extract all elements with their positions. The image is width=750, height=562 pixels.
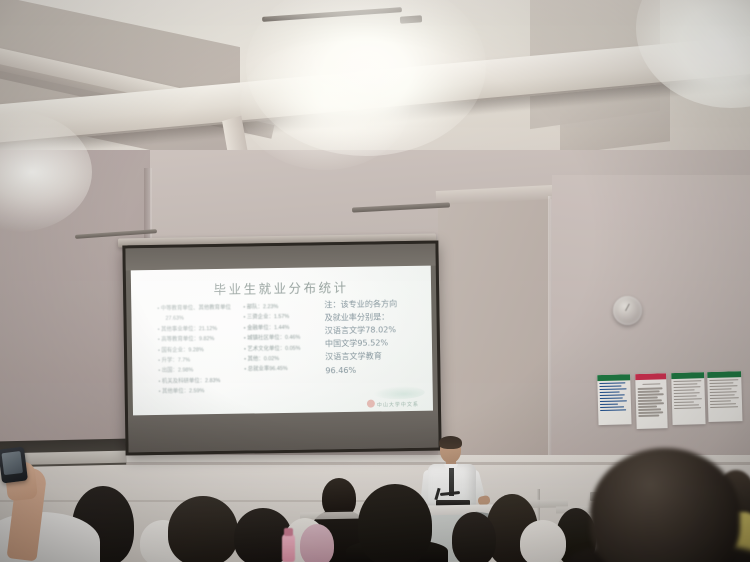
projector-screen: 毕业生就业分布统计 • 中等教育单位、其他教育单位 27.63% • 其他事业单… xyxy=(122,241,441,456)
poster-text-lines xyxy=(671,378,705,409)
slide-note: 注：该专业的各方向 及就业率分别是： 汉语言文学78.02% 中国文学95.52… xyxy=(324,297,398,377)
right-wall xyxy=(552,175,750,495)
slide-note-line: 96.46% xyxy=(325,363,398,377)
wall-poster-group xyxy=(597,371,750,437)
slide-note-line: 中国文学95.52% xyxy=(325,337,398,351)
wall-poster xyxy=(635,373,668,429)
slide-bullet: • 总就业率96.45% xyxy=(244,364,301,375)
poster-text-lines xyxy=(635,379,667,416)
water-bottle xyxy=(282,534,295,562)
classroom-photo: 毕业生就业分布统计 • 中等教育单位、其他教育单位 27.63% • 其他事业单… xyxy=(0,0,750,562)
poster-text-lines xyxy=(707,377,742,408)
wall-poster xyxy=(597,374,631,425)
audience-head xyxy=(358,484,432,562)
logo-mark-icon xyxy=(367,400,375,408)
logo-text: 中山大学中文系 xyxy=(377,401,419,409)
slide-note-line: 注：该专业的各方向 xyxy=(324,297,397,311)
slide-title: 毕业生就业分布统计 xyxy=(131,276,431,300)
slide-column-left: • 中等教育单位、其他教育单位 27.63% • 其他事业单位：21.12% •… xyxy=(157,303,232,398)
slide-logo: 中山大学中文系 xyxy=(367,386,427,409)
slide-note-line: 汉语言文学78.02% xyxy=(325,323,398,337)
slide-column-middle: • 部队：2.23% • 三资企业：1.57% • 金融单位：1.44% • 城… xyxy=(243,302,301,376)
screen-bottom-band xyxy=(128,411,439,453)
water-bottle-cap xyxy=(284,528,293,536)
slide-bullet: • 城镇社区单位：0.46% xyxy=(244,333,301,344)
slide-note-line: 汉语言文学教育 xyxy=(325,350,398,364)
audience-head xyxy=(520,520,566,562)
audience-head xyxy=(300,524,334,562)
wall-poster xyxy=(707,371,742,422)
speaker-hair xyxy=(439,436,462,449)
wall-poster xyxy=(671,372,705,425)
poster-text-lines xyxy=(597,380,631,411)
audience-head xyxy=(168,496,238,562)
smartphone-icon[interactable] xyxy=(0,447,28,484)
logo-swoosh-icon xyxy=(373,386,425,400)
wall-clock-icon xyxy=(613,296,642,325)
slide-bullet: • 艺术文化单位：0.05% xyxy=(244,343,301,354)
slide-note-line: 及就业率分别是： xyxy=(324,310,397,324)
slide-bullet: • 其他单位：2.59% xyxy=(159,386,233,398)
audience-head xyxy=(452,512,496,562)
slide-bullet: • 中等教育单位、其他教育单位 27.63% xyxy=(157,303,231,325)
presentation-slide: 毕业生就业分布统计 • 中等教育单位、其他教育单位 27.63% • 其他事业单… xyxy=(131,266,433,416)
